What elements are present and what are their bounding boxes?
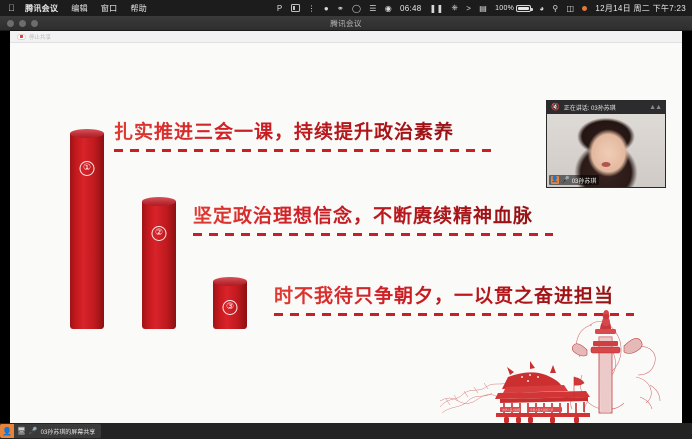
headline-1-text: 扎实推进三会一课，持续提升政治素养: [114, 117, 496, 144]
link-icon[interactable]: ⚭: [337, 4, 344, 13]
menu-item-app[interactable]: 腾讯会议: [25, 3, 58, 14]
recording-timer: 06:48: [400, 4, 422, 13]
video-tile-header: 🔇 正在讲话: 03孙苏琪 ▲▲: [547, 101, 665, 114]
pillar-3: ③: [213, 281, 247, 329]
search-icon[interactable]: ⚲: [552, 4, 558, 13]
record-icon[interactable]: ◉: [385, 4, 392, 13]
pillar-3-cap: [213, 277, 247, 286]
taskbar-item-screen-share[interactable]: 👤 🖥 🎤 03孙苏琪的屏幕共享: [0, 424, 101, 438]
participant-video-tile[interactable]: 🔇 正在讲话: 03孙苏琪 ▲▲ 👤 🎤 03孙苏琪: [546, 100, 666, 188]
bottom-taskbar: 👤 🖥 🎤 03孙苏琪的屏幕共享: [0, 423, 692, 439]
svg-text:中华人民共和国: 中华人民共和国: [502, 408, 521, 412]
apple-icon[interactable]: : [8, 4, 15, 13]
pillar-2-body: [142, 201, 176, 329]
control-center-icon[interactable]: ▤: [479, 4, 487, 13]
menu-item-edit[interactable]: 编辑: [71, 3, 88, 14]
menu-bar-clock: 12月14日 周二 下午7:23: [595, 3, 686, 14]
pillar-3-number: ③: [223, 300, 238, 315]
headline-2-text: 坚定政治理想信念，不断赓续精神血脉: [193, 201, 553, 228]
screen-share-icon: 🖥: [17, 428, 26, 435]
headline-2-dashed-rule: [193, 233, 553, 236]
taskbar-item-label: 03孙苏琪的屏幕共享: [41, 427, 96, 436]
tiananmen-illustration: 中华人民共和国 世界人民大团结万岁: [440, 301, 682, 423]
video-face-detail: [602, 162, 611, 167]
pillar-2-number: ②: [152, 226, 167, 241]
pillar-1-cap: [70, 129, 104, 138]
app-window: 腾讯会议 停止共享 ① ② ③ 扎实推进三会一课，持续提升政治素养: [0, 16, 692, 423]
headline-1-dashed-rule: [114, 149, 496, 152]
stop-share-icon: [17, 34, 26, 40]
menu-item-window[interactable]: 窗口: [101, 3, 118, 14]
info-icon[interactable]: ⋮: [308, 4, 316, 13]
sliders-icon[interactable]: ☰: [369, 4, 376, 13]
stop-share-button[interactable]: 停止共享: [17, 33, 51, 41]
share-toolbar-strip: 停止共享: [10, 31, 682, 43]
window-title: 腾讯会议: [0, 18, 692, 29]
pillar-2: ②: [142, 201, 176, 329]
pillar-1-number: ①: [80, 161, 95, 176]
window-titlebar: 腾讯会议: [0, 16, 692, 31]
chevron-icon[interactable]: >: [466, 4, 471, 13]
p-icon[interactable]: P: [277, 4, 283, 13]
participant-name: 03孙苏琪: [572, 176, 597, 185]
pause-icon[interactable]: ❚❚: [430, 4, 444, 13]
tencent-meeting-icon: 👤: [0, 424, 14, 438]
menu-item-help[interactable]: 帮助: [130, 3, 147, 14]
microphone-icon: 🎤: [561, 177, 570, 184]
headline-1: 扎实推进三会一课，持续提升政治素养: [114, 117, 496, 152]
headline-2: 坚定政治理想信念，不断赓续精神血脉: [193, 201, 553, 236]
battery-percent: 100%: [495, 5, 514, 12]
display-icon[interactable]: ◫: [567, 4, 575, 13]
dropbox-icon[interactable]: ●: [324, 4, 329, 13]
wifi-icon[interactable]: ◕: [539, 4, 544, 13]
pillar-1: ①: [70, 133, 104, 329]
host-badge-icon: 👤: [551, 176, 559, 184]
stop-share-label: 停止共享: [29, 33, 51, 41]
macos-menu-bar:  腾讯会议 编辑 窗口 帮助 P ⋮ ● ⚭ ◯ ☰ ◉ 06:48 ❚❚ ⎈…: [0, 0, 692, 16]
speaker-muted-icon: 🔇: [551, 104, 560, 111]
pillar-2-cap: [142, 197, 176, 206]
video-tile-footer: 👤 🎤 03孙苏琪: [549, 175, 599, 185]
battery-indicator[interactable]: 100%: [495, 5, 531, 12]
circle-icon[interactable]: ◯: [352, 4, 361, 13]
screen-record-icon[interactable]: [291, 4, 300, 12]
svg-text:世界人民大团结万岁: 世界人民大团结万岁: [530, 408, 554, 412]
speaking-label: 正在讲话: 03孙苏琪: [564, 103, 616, 112]
menu-bar-status-area: P ⋮ ● ⚭ ◯ ☰ ◉ 06:48 ❚❚ ⎈ > ▤ 100% ◕ ⚲ ◫ …: [277, 3, 692, 14]
siri-icon[interactable]: [582, 6, 587, 11]
power-icon[interactable]: ⎈: [452, 3, 459, 13]
audio-wave-icon: ▲▲: [649, 104, 661, 111]
microphone-icon: 🎤: [29, 428, 38, 435]
